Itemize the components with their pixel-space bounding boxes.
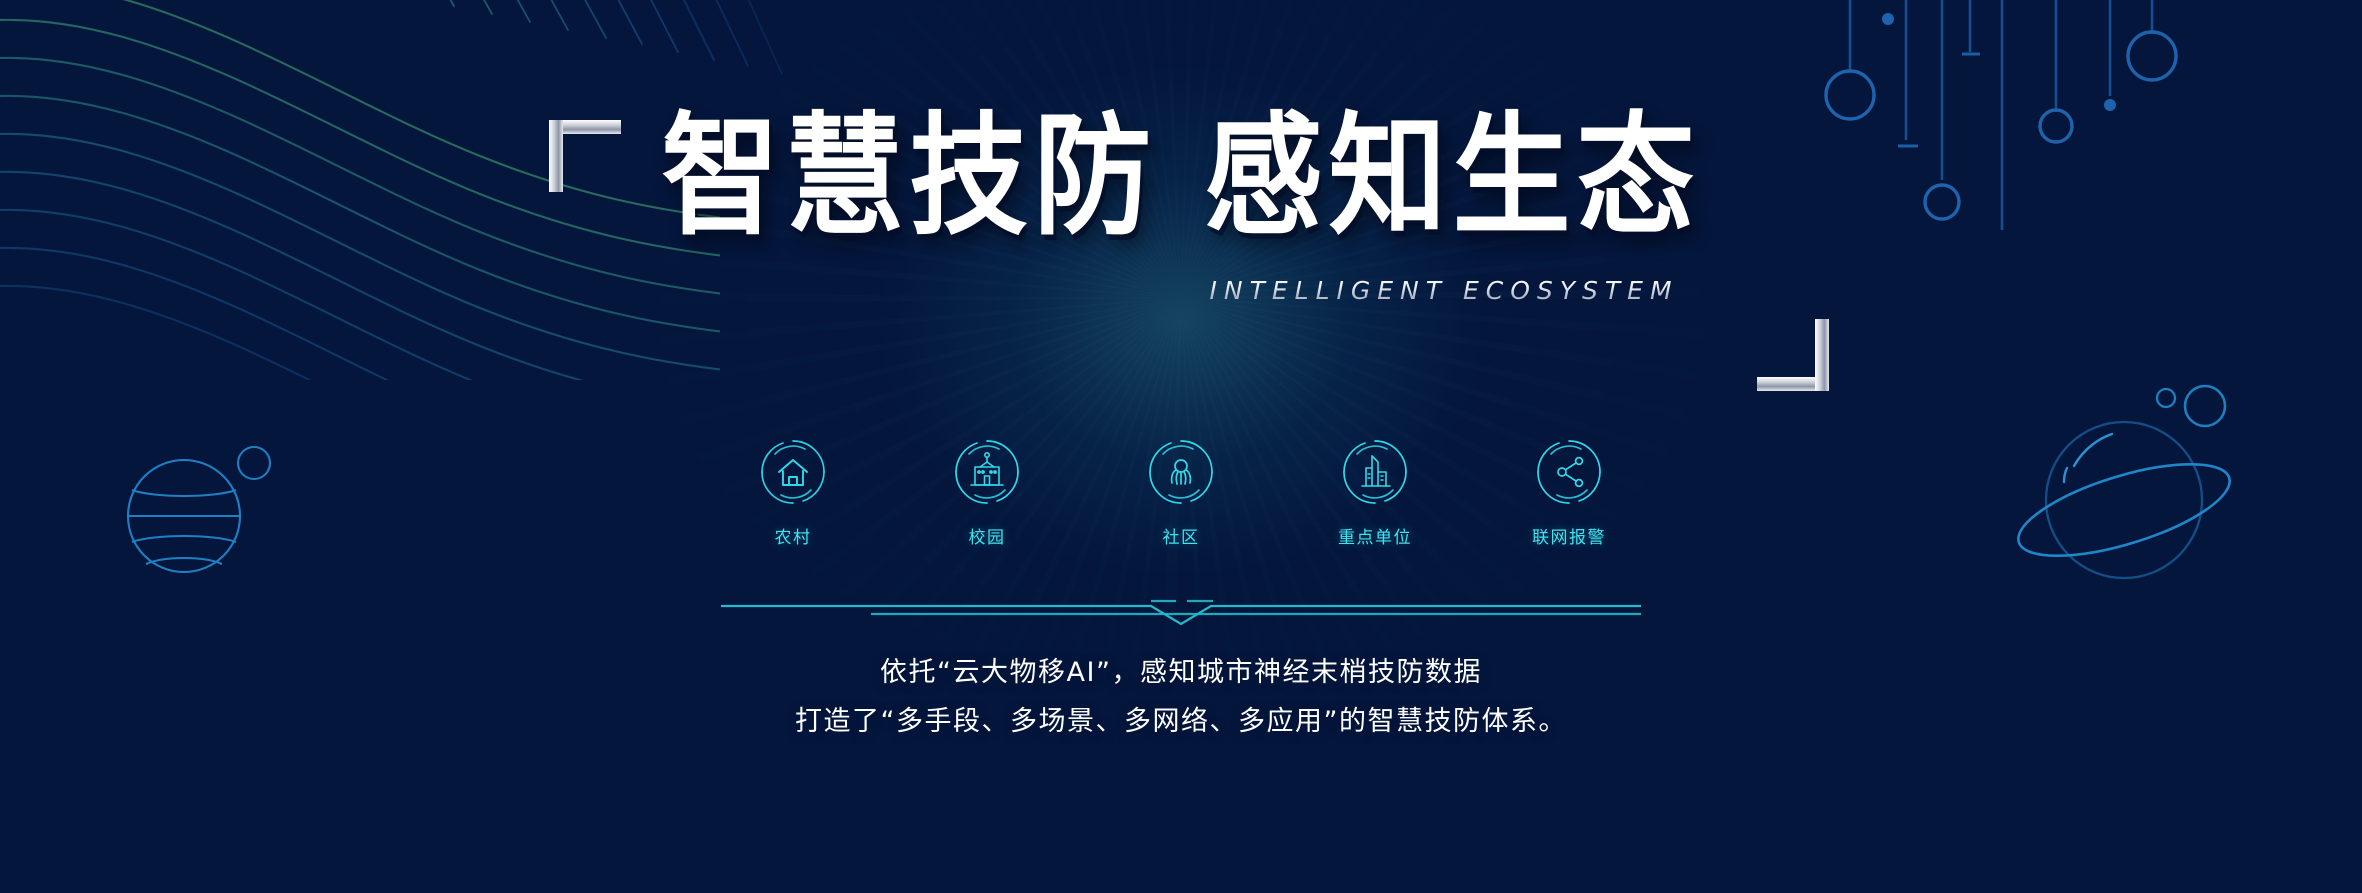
banner-stage: 智慧技防 感知生态 INTELLIGENT ECOSYSTEM — [0, 0, 2362, 893]
page-subtitle: INTELLIGENT ECOSYSTEM — [661, 276, 1700, 305]
category-item-campus[interactable]: 校园 — [932, 438, 1042, 548]
category-item-network-alarm[interactable]: 联网报警 — [1514, 438, 1624, 548]
ringed-planet-decoration — [2012, 370, 2362, 640]
category-label: 联网报警 — [1514, 523, 1624, 548]
category-item-key-units[interactable]: 重点单位 — [1320, 438, 1430, 548]
circuit-lines-decoration — [1802, 0, 2362, 230]
category-label: 重点单位 — [1320, 523, 1430, 548]
corner-bracket-top-left-icon — [549, 120, 621, 192]
title-block: 智慧技防 感知生态 INTELLIGENT ECOSYSTEM — [0, 110, 2362, 305]
page-title: 智慧技防 感知生态 — [661, 102, 1700, 250]
horizon-flare — [52, 835, 1452, 893]
fan-lines-decoration — [230, 0, 790, 240]
corner-bracket-bottom-right-icon — [1757, 319, 1829, 391]
description-line-2: 打造了“多手段、多场景、多网络、多应用”的智慧技防体系。 — [0, 697, 2362, 746]
section-divider — [721, 594, 1641, 628]
category-label: 校园 — [932, 523, 1042, 548]
house-icon — [759, 438, 827, 506]
office-tower-icon — [1341, 438, 1409, 506]
wireframe-globe-decoration — [96, 428, 296, 598]
school-building-icon — [953, 438, 1021, 506]
category-label: 农村 — [738, 523, 848, 548]
category-label: 社区 — [1126, 523, 1236, 548]
network-share-icon — [1535, 438, 1603, 506]
community-people-icon — [1147, 438, 1215, 506]
category-icon-row: 农村 — [738, 438, 1624, 548]
description-block: 依托“云大物移AI”，感知城市神经末梢技防数据 打造了“多手段、多场景、多网络、… — [0, 648, 2362, 746]
wave-lines-decoration — [0, 0, 720, 380]
category-item-rural[interactable]: 农村 — [738, 438, 848, 548]
category-item-community[interactable]: 社区 — [1126, 438, 1236, 548]
description-line-1: 依托“云大物移AI”，感知城市神经末梢技防数据 — [0, 648, 2362, 697]
